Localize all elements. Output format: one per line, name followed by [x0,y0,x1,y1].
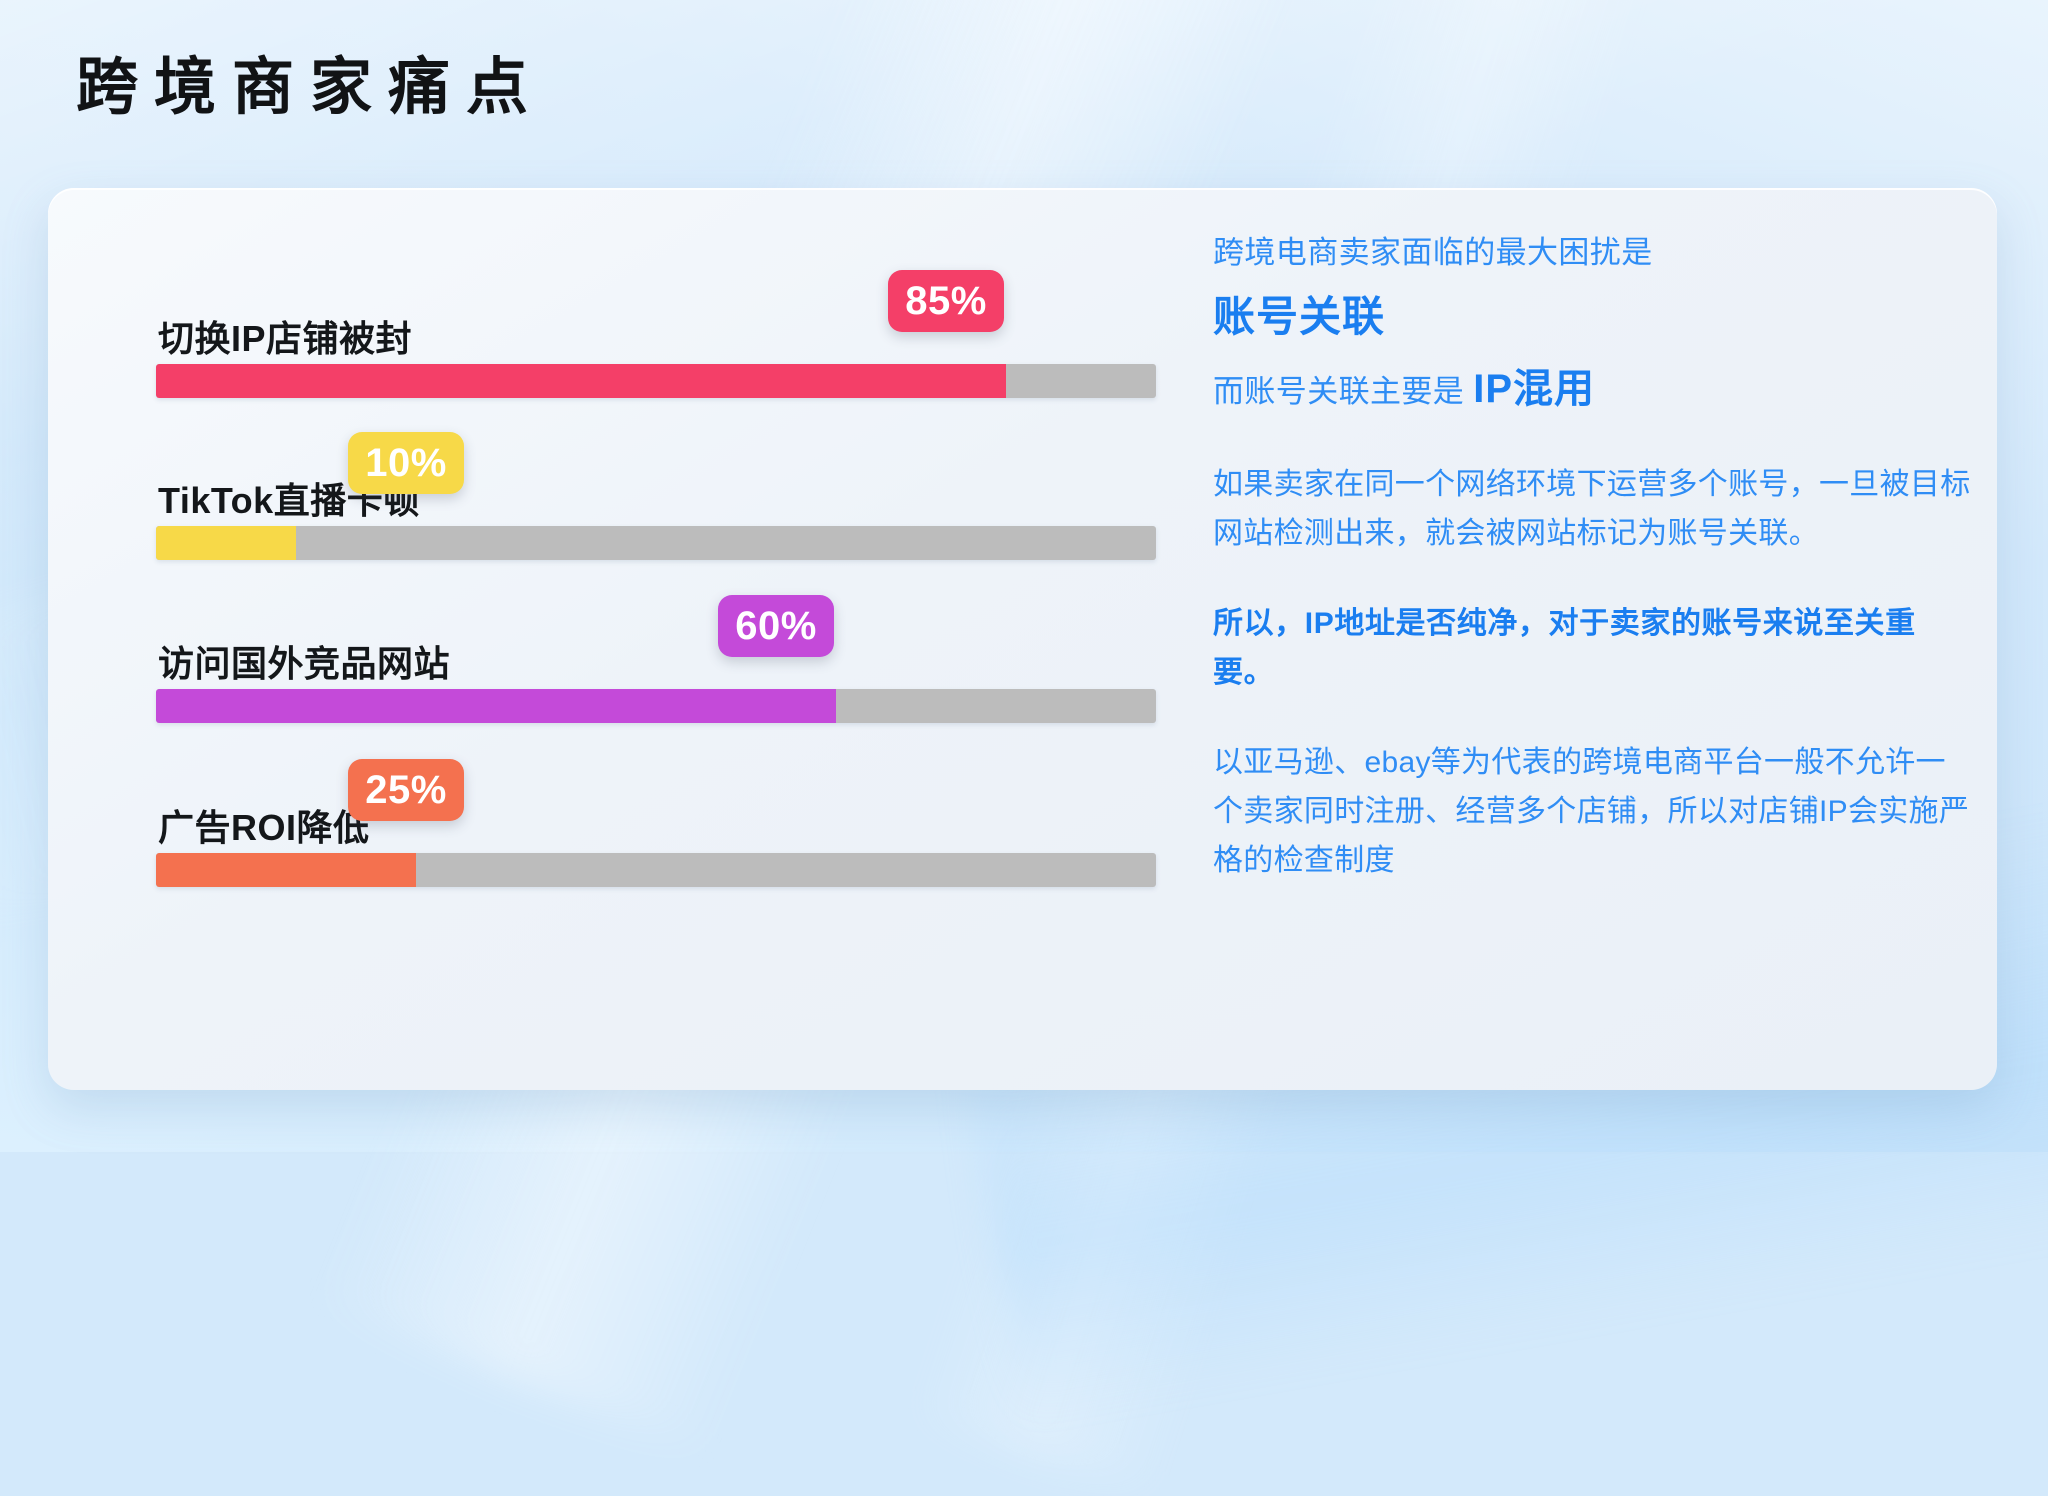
bar-fill [156,853,416,887]
copy-paragraph-3: 以亚马逊、ebay等为代表的跨境电商平台一般不允许一个卖家同时注册、经营多个店铺… [1213,739,1973,885]
copy-lead: 跨境电商卖家面临的最大困扰是 [1213,230,1973,277]
content-card: 切换IP店铺被封85%TikTok直播卡顿10%访问国外竞品网站60%广告ROI… [48,188,1997,1090]
pain-point-bar-chart: 切换IP店铺被封85%TikTok直播卡顿10%访问国外竞品网站60%广告ROI… [108,224,1173,1054]
bar-track [156,853,1156,887]
bar-value-badge: 25% [348,759,464,821]
bar-label: 广告ROI降低 [158,799,370,851]
bar-value-badge: 10% [348,432,464,494]
copy-paragraph-1: 如果卖家在同一个网络环境下运营多个账号，一旦被目标网站检测出来，就会被网站标记为… [1213,461,1973,558]
bar-label: 切换IP店铺被封 [158,310,412,362]
copy-subline-prefix: 而账号关联主要是 [1213,374,1464,409]
bar-value-badge: 60% [718,595,834,657]
bar-track [156,526,1156,560]
bar-fill [156,526,296,560]
bar-track [156,689,1156,723]
copy-headline: 账号关联 [1213,291,1973,344]
page-title: 跨境商家痛点 [76,54,544,122]
bar-track [156,364,1156,398]
bar-label: 访问国外竞品网站 [158,635,450,687]
copy-paragraph-2: 所以，IP地址是否纯净，对于卖家的账号来说至关重要。 [1213,600,1973,697]
copy-subline-strong: IP混用 [1473,367,1595,411]
bar-value-badge: 85% [888,270,1004,332]
copy-subline: 而账号关联主要是 IP混用 [1213,359,1973,419]
bar-fill [156,364,1006,398]
explanation-text-block: 跨境电商卖家面临的最大困扰是 账号关联 而账号关联主要是 IP混用 如果卖家在同… [1213,230,1973,885]
bar-fill [156,689,836,723]
